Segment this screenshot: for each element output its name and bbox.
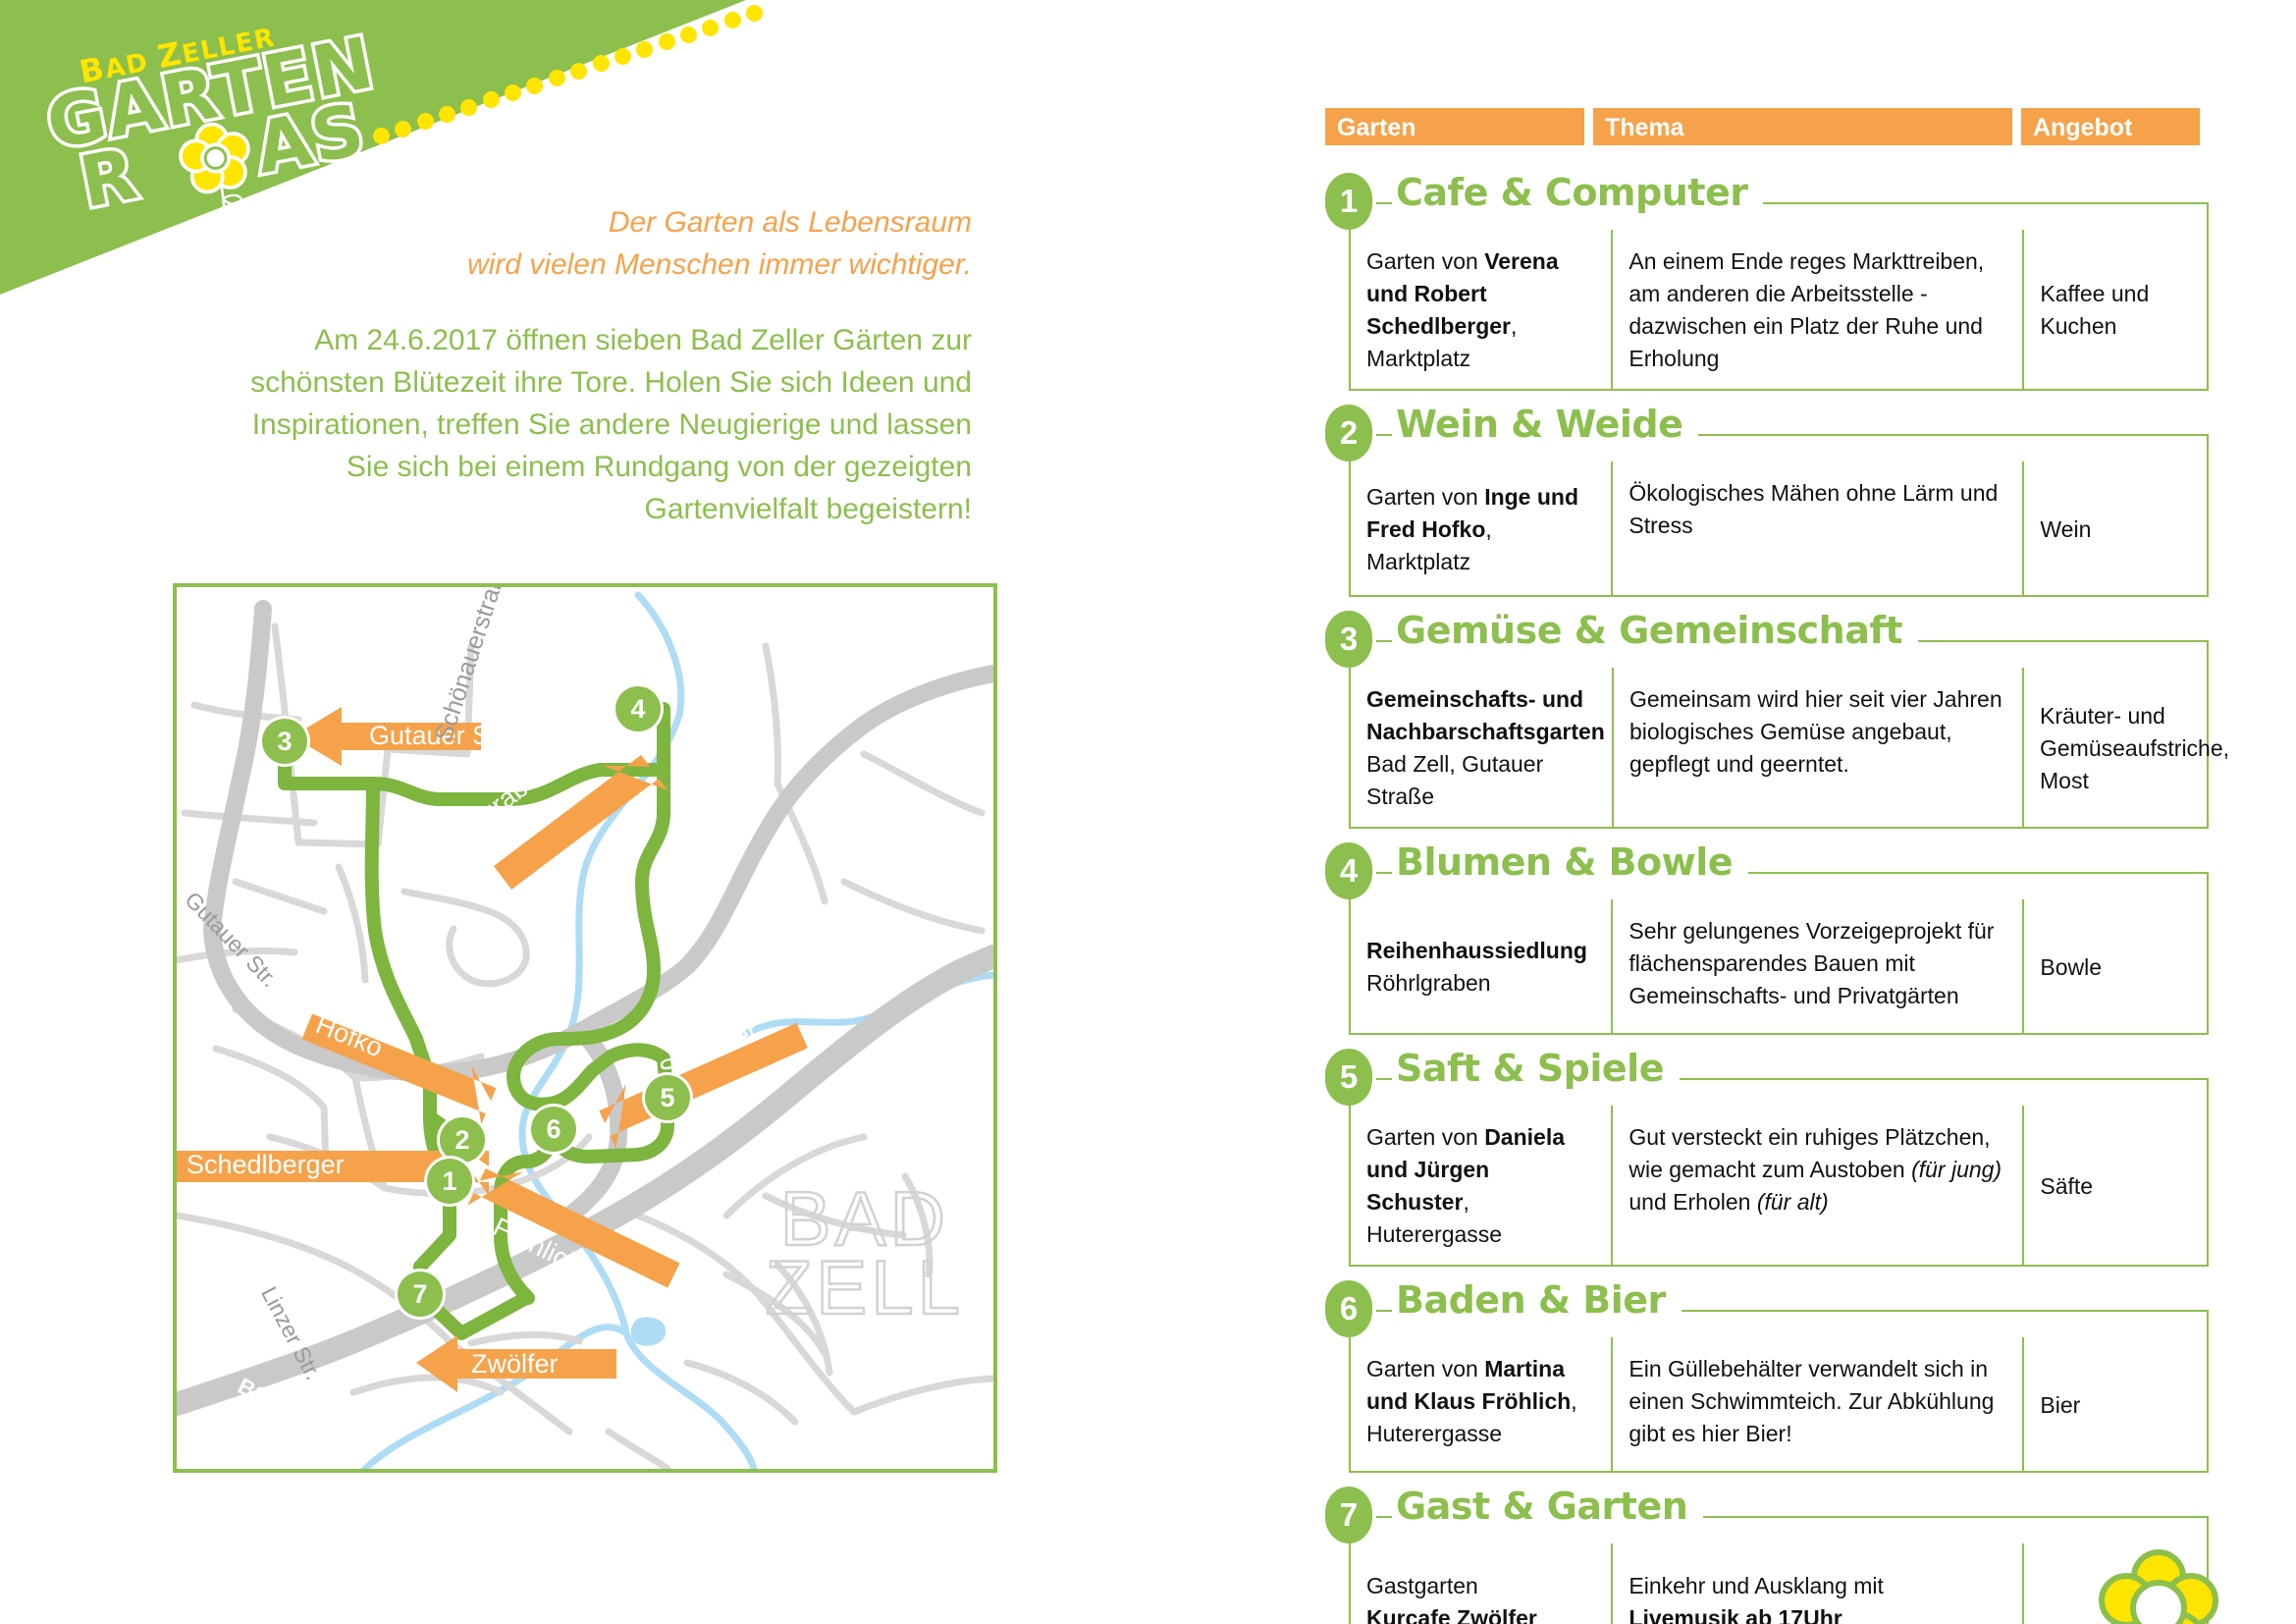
row-header: 4 Blumen & Bowle xyxy=(1325,844,2209,899)
row-title: Gemüse & Gemeinschaft xyxy=(1396,609,1918,652)
thema-italic-2: (für alt) xyxy=(1757,1189,1829,1215)
row-header: 2 Wein & Weide xyxy=(1325,406,2209,461)
garten-name: Gemeinschafts- und Nachbarschaftsgarten xyxy=(1366,686,1605,744)
table-row: 6 Baden & Bier Garten von Martina und Kl… xyxy=(1325,1282,2209,1473)
map-marker-7[interactable]: 7 xyxy=(398,1272,443,1317)
yellow-dot xyxy=(526,78,543,94)
thema-highlight: Livemusik ab 17Uhr xyxy=(1629,1605,1842,1624)
row-dash xyxy=(1376,1310,1392,1312)
row-dash xyxy=(1376,434,1392,436)
cell-angebot: Bowle xyxy=(2024,899,2207,1033)
arrow-label-schedlberger: Schedlberger xyxy=(187,1152,345,1178)
map-marker-6[interactable]: 6 xyxy=(531,1107,576,1152)
yellow-dot xyxy=(636,41,653,58)
cell-thema: Einkehr und Ausklang mit Livemusik ab 17… xyxy=(1613,1543,2024,1624)
map-marker-2[interactable]: 2 xyxy=(440,1117,485,1163)
left-panel: BAD ZELLER GARTEN ROOAS xyxy=(0,0,1021,1624)
cell-angebot: Kräuter- und Gemüseaufstriche, Most xyxy=(2024,668,2207,827)
garten-suffix: Bad Zell, Gutauer Straße xyxy=(1366,751,1543,809)
column-header-angebot: Angebot xyxy=(2021,108,2200,145)
arrow-label-zwoelfer: Zwölfer xyxy=(471,1351,559,1378)
table-row: 3 Gemüse & Gemeinschaft Gemeinschafts- u… xyxy=(1325,613,2209,829)
row-dash xyxy=(1376,1516,1392,1518)
cell-garten: Garten von Verena und Robert Schedlberge… xyxy=(1351,230,1613,389)
garten-suffix: Röhrlgraben xyxy=(1366,970,1491,996)
cell-garten: Gemeinschafts- und Nachbarschaftsgarten … xyxy=(1351,668,1614,827)
map-marker-5[interactable]: 5 xyxy=(645,1075,690,1120)
yellow-dot xyxy=(505,84,521,101)
map-marker-1[interactable]: 1 xyxy=(427,1159,472,1204)
intro-body-line2: schönsten Blütezeit ihre Tore. Holen Sie… xyxy=(187,361,972,404)
garten-name: Kurcafe Zwölfer xyxy=(1366,1605,1537,1624)
garten-prefix: Garten von xyxy=(1366,1124,1484,1150)
row-title: Wein & Weide xyxy=(1396,403,1698,446)
yellow-dot xyxy=(680,27,697,43)
yellow-dot xyxy=(373,128,390,144)
logo-roas-r: R xyxy=(74,132,144,223)
garten-name: Reihenhaussiedlung xyxy=(1366,938,1587,963)
yellow-dot xyxy=(483,91,500,108)
row-header: 6 Baden & Bier xyxy=(1325,1282,2209,1337)
cell-angebot: Säfte xyxy=(2024,1106,2207,1265)
row-header: 3 Gemüse & Gemeinschaft xyxy=(1325,613,2209,668)
cell-angebot: Bier xyxy=(2024,1337,2207,1471)
row-number-badge: 3 xyxy=(1325,611,1372,668)
row-number-badge: 5 xyxy=(1325,1049,1372,1106)
garten-prefix: Garten von xyxy=(1366,248,1484,274)
yellow-dot xyxy=(417,113,434,130)
map-marker-3[interactable]: 3 xyxy=(262,719,307,764)
row-number-badge: 7 xyxy=(1325,1487,1372,1543)
row-title: Blumen & Bowle xyxy=(1396,840,1748,884)
yellow-dot xyxy=(746,5,763,22)
yellow-dot xyxy=(702,20,719,36)
route-map[interactable]: Gutauer Str. Röhrlgraben Hofko Schedlber… xyxy=(173,583,997,1473)
yellow-dot xyxy=(593,55,610,72)
row-dash xyxy=(1376,640,1392,642)
row-dash xyxy=(1376,872,1392,874)
row-header: 1 Cafe & Computer xyxy=(1325,175,2209,230)
poster-page: BAD ZELLER GARTEN ROOAS xyxy=(0,0,2296,1624)
cell-garten: Garten von Daniela und Jürgen Schuster, … xyxy=(1351,1106,1613,1265)
table-row: 1 Cafe & Computer Garten von Verena und … xyxy=(1325,175,2209,391)
place-name-line2: ZELL xyxy=(766,1253,964,1322)
intro-body-line1: Am 24.6.2017 öffnen sieben Bad Zeller Gä… xyxy=(187,319,972,361)
intro-body: Am 24.6.2017 öffnen sieben Bad Zeller Gä… xyxy=(187,319,972,530)
flower-icon xyxy=(2085,1547,2232,1624)
table-row: 2 Wein & Weide Garten von Inge und Fred … xyxy=(1325,406,2209,597)
row-title: Cafe & Computer xyxy=(1396,171,1763,214)
intro-body-line5: Gartenvielfalt begeistern! xyxy=(187,488,972,530)
cell-thema: Gemeinsam wird hier seit vier Jahren bio… xyxy=(1614,668,2024,827)
map-marker-4[interactable]: 4 xyxy=(615,686,661,731)
yellow-dot xyxy=(614,48,631,65)
row-number-badge: 6 xyxy=(1325,1280,1372,1337)
table-row: 7 Gast & Garten Gastgarten Kurcafe Zwölf… xyxy=(1325,1489,2209,1624)
cell-thema: An einem Ende reges Markttreiben, am and… xyxy=(1613,230,2024,389)
intro-body-line3: Inspirationen, treffen Sie andere Neugie… xyxy=(187,404,972,446)
table-row: 5 Saft & Spiele Garten von Daniela und J… xyxy=(1325,1051,2209,1267)
garten-prefix: Garten von xyxy=(1366,484,1484,510)
row-header: 5 Saft & Spiele xyxy=(1325,1051,2209,1106)
cell-thema: Gut versteckt ein ruhiges Plätzchen, wie… xyxy=(1613,1106,2024,1265)
thema-italic-1: (für jung) xyxy=(1911,1157,2002,1182)
row-number-badge: 1 xyxy=(1325,173,1372,230)
yellow-dot xyxy=(549,70,565,86)
cell-garten: Garten von Inge und Fred Hofko, Marktpla… xyxy=(1351,461,1613,595)
garden-table: Garten Thema Angebot 1 Cafe & Computer G… xyxy=(1325,108,2209,1624)
yellow-dot xyxy=(395,121,411,137)
table-row: 4 Blumen & Bowle Reihenhaussiedlung Röhr… xyxy=(1325,844,2209,1035)
cell-garten: Gastgarten Kurcafe Zwölfer xyxy=(1351,1543,1613,1624)
cell-garten: Garten von Martina und Klaus Fröhlich, H… xyxy=(1351,1337,1613,1471)
row-number-badge: 4 xyxy=(1325,842,1372,899)
row-title: Saft & Spiele xyxy=(1396,1047,1680,1090)
row-title: Gast & Garten xyxy=(1396,1485,1703,1528)
row-title: Baden & Bier xyxy=(1396,1278,1682,1322)
cell-angebot: Kaffee und Kuchen xyxy=(2024,230,2207,389)
cell-thema: Sehr gelungenes Vorzeigeprojekt für fläc… xyxy=(1613,899,2024,1033)
garten-prefix: Garten von xyxy=(1366,1356,1484,1381)
cell-thema: Ökologisches Mähen ohne Lärm und Stress xyxy=(1613,461,2024,595)
place-name-line1: BAD xyxy=(766,1184,964,1253)
place-name-bad-zell: BAD ZELL xyxy=(766,1184,964,1322)
garten-prefix: Gastgarten xyxy=(1366,1573,1478,1598)
intro-headline-line2: wird vielen Menschen immer wichtiger. xyxy=(363,244,972,286)
cell-angebot: Wein xyxy=(2024,461,2207,595)
column-header-thema: Thema xyxy=(1593,108,2012,145)
row-dash xyxy=(1376,202,1392,204)
thema-prefix: Einkehr und Ausklang mit xyxy=(1629,1573,1884,1598)
table-column-headers: Garten Thema Angebot xyxy=(1325,108,2209,145)
row-dash xyxy=(1376,1078,1392,1080)
yellow-dot xyxy=(659,33,675,50)
cell-thema: Ein Güllebehälter verwandelt sich in ein… xyxy=(1613,1337,2024,1471)
intro-headline-line1: Der Garten als Lebensraum xyxy=(363,201,972,244)
cell-garten: Reihenhaussiedlung Röhrlgraben xyxy=(1351,899,1613,1033)
yellow-dot xyxy=(439,106,455,123)
row-header: 7 Gast & Garten xyxy=(1325,1489,2209,1543)
yellow-dot xyxy=(570,63,587,80)
intro-body-line4: Sie sich bei einem Rundgang von der geze… xyxy=(187,446,972,488)
intro-headline: Der Garten als Lebensraum wird vielen Me… xyxy=(363,201,972,286)
column-header-garten: Garten xyxy=(1325,108,1584,145)
row-number-badge: 2 xyxy=(1325,405,1372,461)
yellow-dot xyxy=(724,12,741,28)
yellow-dot xyxy=(460,99,477,116)
